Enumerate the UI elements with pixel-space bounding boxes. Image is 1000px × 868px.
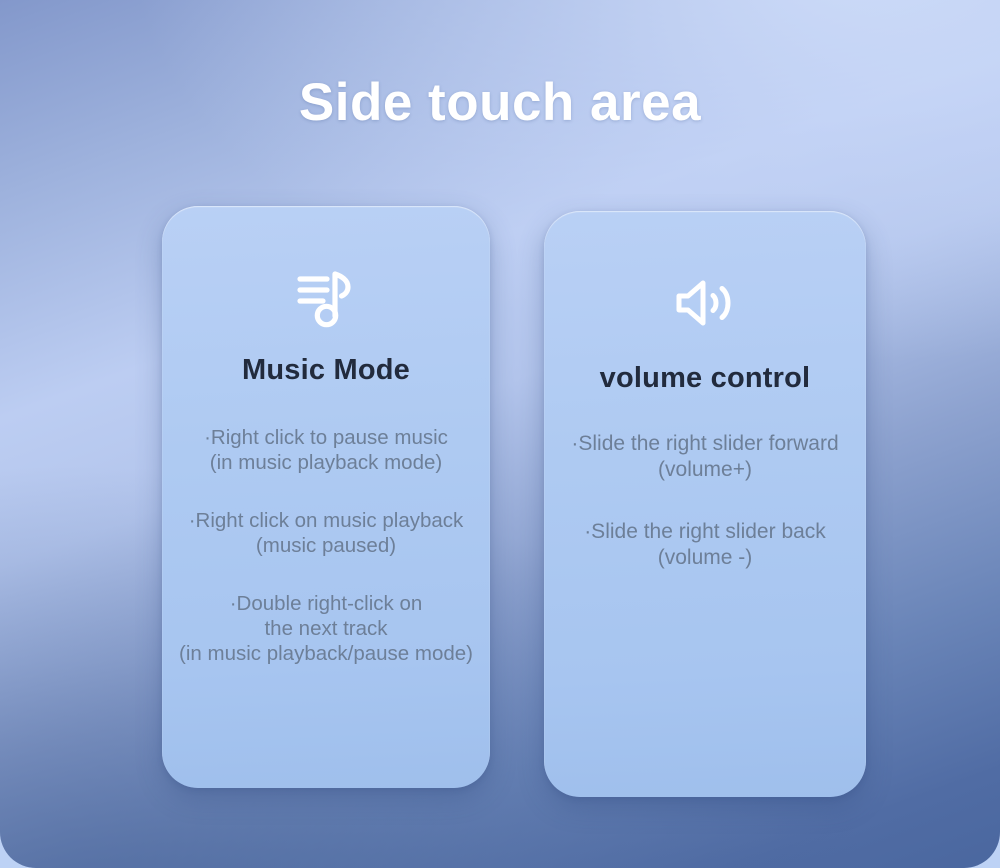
card-paragraph: ·Slide the right slider forward (volume+… [548,431,862,483]
card-body-music-mode: ·Right click to pause music (in music pl… [162,425,490,666]
speaker-volume-icon [672,267,738,339]
music-playlist-icon [291,260,361,332]
card-paragraph: ·Right click to pause music (in music pl… [166,425,486,475]
card-volume-control[interactable]: volume control ·Slide the right slider f… [544,211,866,797]
page-title: Side touch area [0,72,1000,133]
card-title-volume-control: volume control [600,362,811,395]
card-paragraph: ·Right click on music playback (music pa… [166,508,486,558]
card-paragraph: ·Double right-click on the next track (i… [166,591,486,666]
card-music-mode[interactable]: Music Mode ·Right click to pause music (… [162,206,490,788]
card-body-volume-control: ·Slide the right slider forward (volume+… [544,431,866,571]
card-title-music-mode: Music Mode [242,354,410,387]
page-background: Side touch area Music Mode ·Right click … [0,0,1000,868]
card-paragraph: ·Slide the right slider back (volume -) [548,519,862,571]
